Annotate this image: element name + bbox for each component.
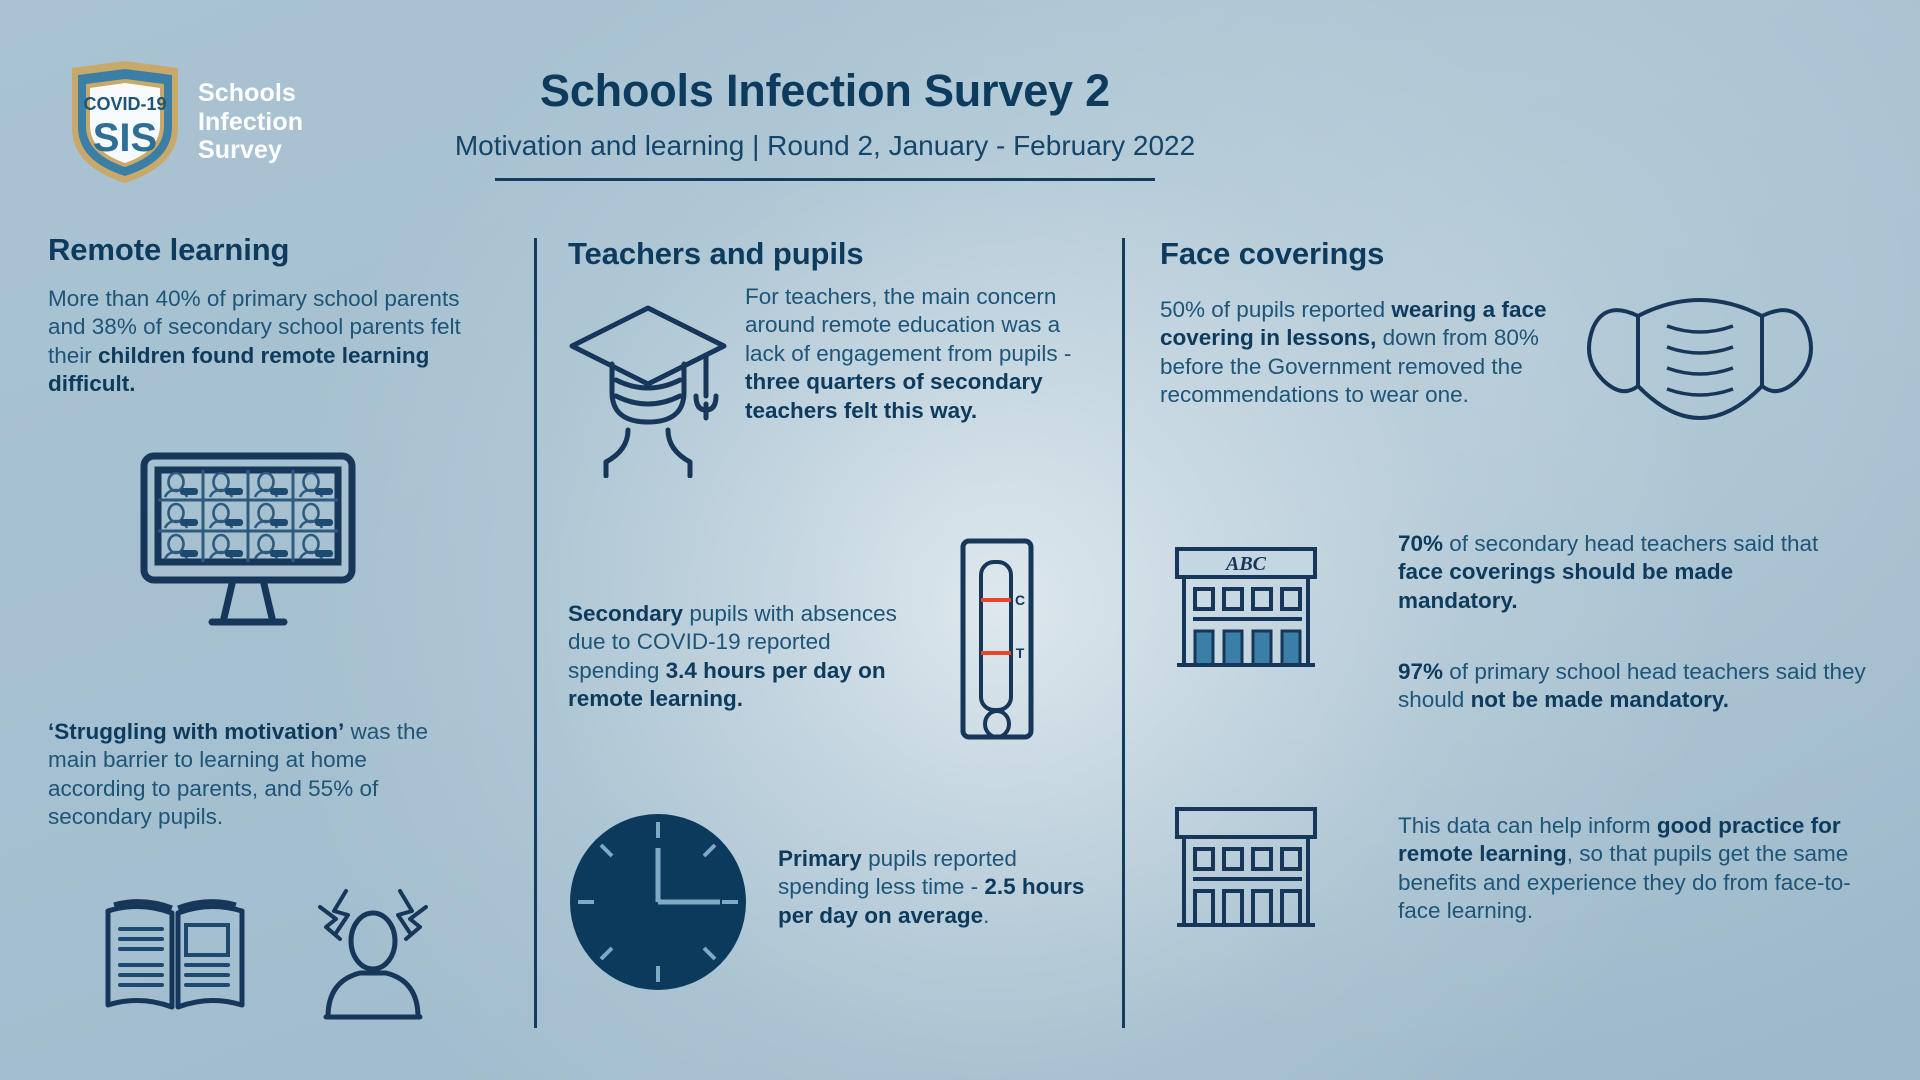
school-building-outline-icon [1172,805,1320,927]
teachers-paragraph-1: For teachers, the main concern around re… [745,283,1080,425]
lateral-flow-test-icon: C T [960,538,1034,740]
teachers-paragraph-3: Primary pupils reported spending less ti… [778,845,1108,930]
face-coverings-paragraph-3: 97% of primary school head teachers said… [1398,658,1868,715]
teachers-paragraph-2: Secondary pupils with absences due to CO… [568,600,913,714]
clock-icon [568,812,748,992]
school-sign-text: ABC [1224,553,1267,575]
video-call-monitor-icon [140,452,356,632]
logo-covid-label: COVID-19 [83,94,166,114]
logo-sis-label: SIS [93,116,157,160]
school-building-icon: ABC [1172,545,1320,667]
face-coverings-paragraph-4: This data can help inform good practice … [1398,812,1858,926]
logo-wordmark: Schools Infection Survey [198,79,303,165]
shield-logo-icon: COVID-19 SIS [66,58,184,186]
column-divider-right [1122,238,1125,1028]
infographic-page: COVID-19 SIS Schools Infection Survey Sc… [0,0,1920,1080]
test-label-control: C [1015,592,1025,608]
school-sign-board-blank [1177,809,1315,837]
title-divider-rule [495,178,1155,181]
logo-wordmark-line-3: Survey [198,136,303,165]
logo-wordmark-line-2: Infection [198,108,303,137]
section-heading-face-coverings: Face coverings [1160,236,1384,272]
test-label-test: T [1016,645,1025,661]
column-divider-left [534,238,537,1028]
graduation-cap-icon [566,300,730,478]
stressed-person-icon [310,885,436,1023]
logo-wordmark-line-1: Schools [198,79,303,108]
face-mask-icon [1575,278,1825,448]
remote-learning-paragraph-2: ‘Struggling with motivation’ was the mai… [48,718,468,832]
page-title: Schools Infection Survey 2 [430,66,1220,116]
test-sample-well [985,711,1009,737]
open-book-icon [104,895,246,1023]
remote-learning-paragraph-1: More than 40% of primary school parents … [48,285,500,399]
face-coverings-paragraph-2: 70% of secondary head teachers said that… [1398,530,1858,615]
section-heading-teachers-and-pupils: Teachers and pupils [568,236,864,272]
page-subtitle: Motivation and learning | Round 2, Janua… [430,130,1220,162]
section-heading-remote-learning: Remote learning [48,232,289,268]
sis-logo: COVID-19 SIS Schools Infection Survey [66,58,303,186]
header-block: Schools Infection Survey 2 Motivation an… [430,66,1220,181]
face-coverings-paragraph-1: 50% of pupils reported wearing a face co… [1160,296,1560,410]
